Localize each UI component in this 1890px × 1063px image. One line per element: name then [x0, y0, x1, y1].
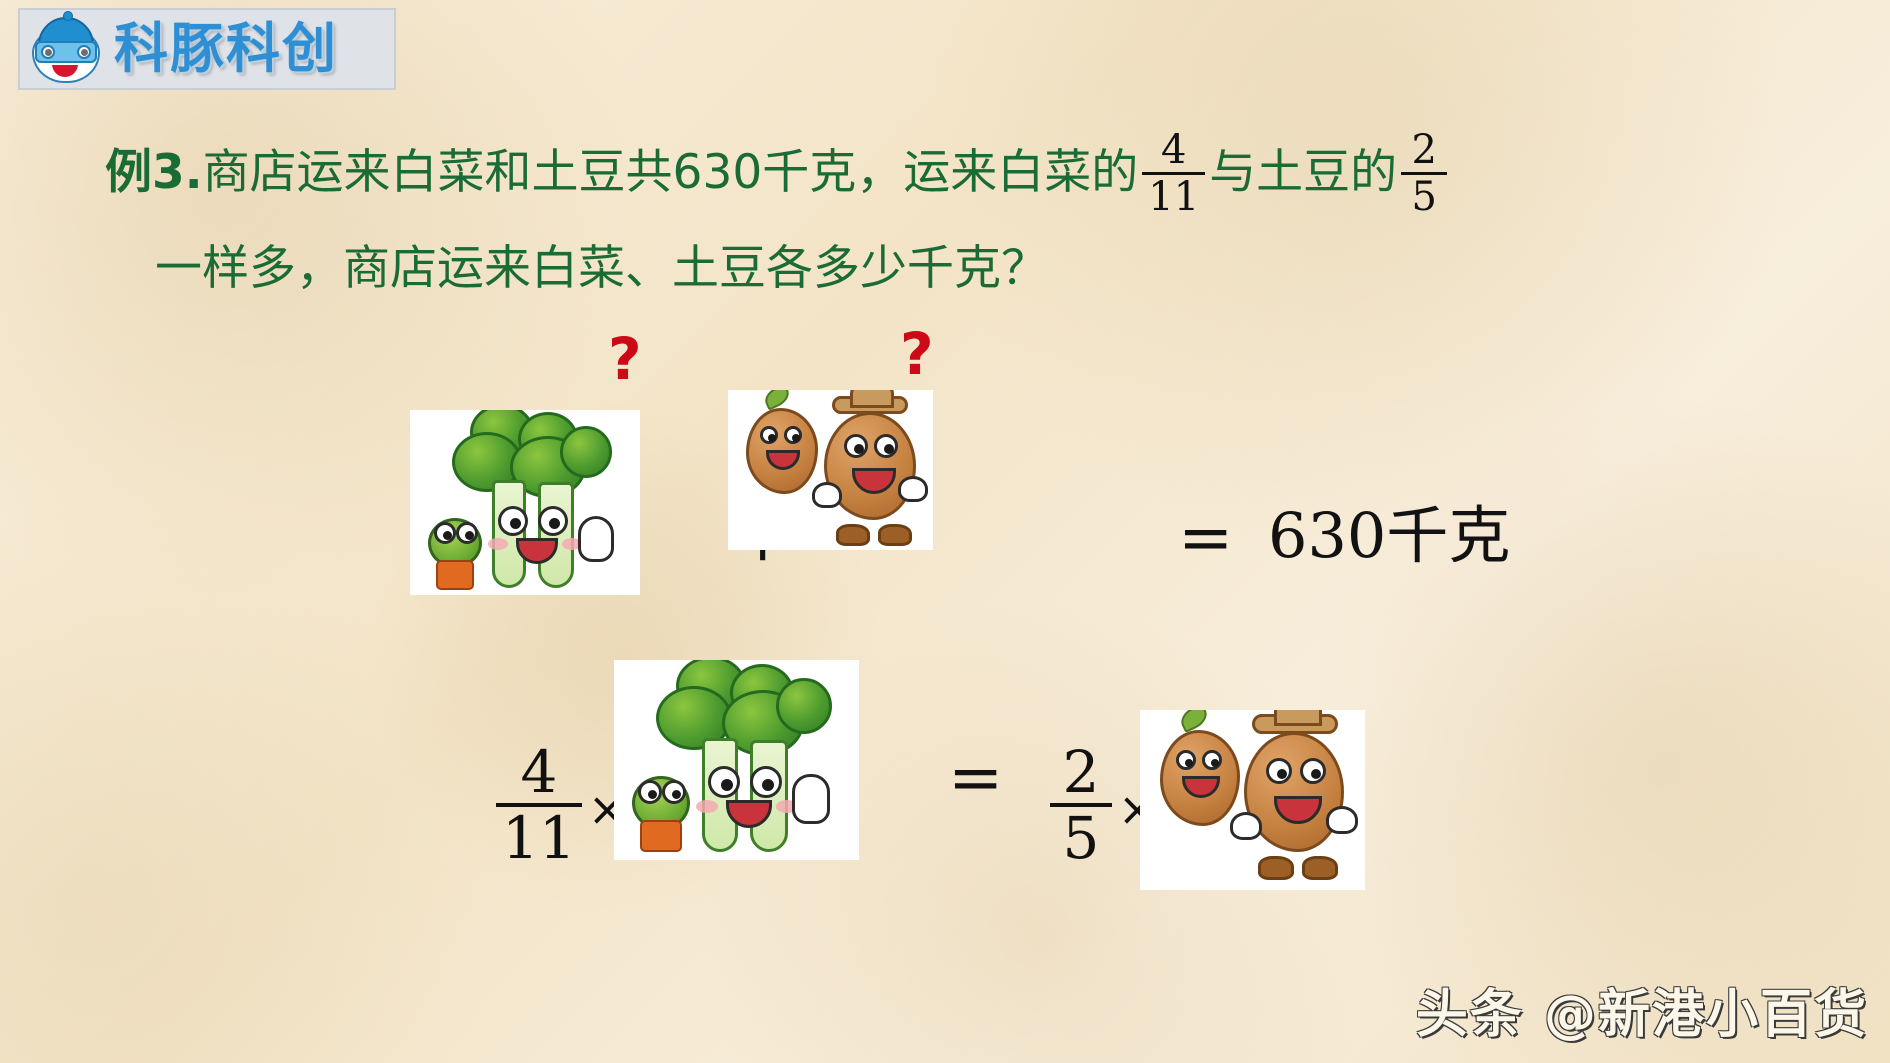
total-weight-label: 630千克 [1268, 505, 1510, 567]
fraction-4-11-row2: 4 11 [496, 743, 582, 867]
mascot-pupil-left [45, 49, 52, 56]
potato-shoe-right [878, 524, 912, 546]
fraction-2-5-inline: 25 [1401, 130, 1447, 217]
potato-shoe-left [836, 524, 870, 546]
fraction-numerator: 4 [1155, 130, 1192, 170]
potato-hat-crown [850, 390, 894, 408]
cabbage-image-row1 [410, 410, 640, 595]
cabbage-leaf [776, 678, 832, 734]
problem-statement: 例3.商店运来白菜和土豆共630千克，运来白菜的411与土豆的25 一样多，商店… [105, 125, 1865, 317]
potato-question-mark: ? [900, 325, 934, 383]
problem-line-2: 一样多，商店运来白菜、土豆各多少千克？ [155, 221, 1865, 317]
problem-line-1: 例3.商店运来白菜和土豆共630千克，运来白菜的411与土豆的25 [105, 125, 1865, 221]
cabbage-character [614, 660, 859, 860]
mascot-goggles [35, 41, 97, 63]
fraction-numerator: 2 [1405, 130, 1442, 170]
equals-operator-row1: = [1178, 505, 1233, 571]
left-fraction-group: 4 11 × [492, 745, 626, 869]
caterpillar-eye-right [456, 522, 478, 544]
cabbage-blush-left [696, 800, 718, 813]
cabbage-eye-left [498, 506, 528, 536]
potato-image-row1 [728, 390, 933, 550]
potato-large-eye-right [1300, 758, 1326, 784]
potato-small-eye-right [784, 426, 802, 444]
fraction-numerator: 2 [1057, 743, 1106, 801]
watermark-text: 头条 @新港小百货 [1416, 972, 1868, 1047]
equals-operator-row2: = [948, 745, 1003, 811]
mascot-pupil-right [81, 49, 88, 56]
problem-line1-part1: 商店运来白菜和土豆共630千克，运来白菜的 [203, 145, 1139, 200]
potato-shoe-right [1302, 856, 1338, 880]
potato-image-row2 [1140, 710, 1365, 890]
fraction-denominator: 5 [1405, 177, 1442, 217]
potato-large-eye-left [1266, 758, 1292, 784]
fraction-4-11-inline: 411 [1142, 130, 1205, 217]
caterpillar-eye-left [638, 780, 662, 804]
potato-small-eye-right [1202, 750, 1222, 770]
problem-line1-part2: 与土豆的 [1209, 145, 1397, 200]
potato-glove-right [1326, 806, 1358, 834]
brand-logo: 科豚科创 [18, 8, 396, 90]
potato-small-eye-left [1176, 750, 1196, 770]
potato-hat-crown [1274, 710, 1322, 726]
dolphin-robot-mascot-icon [30, 15, 102, 83]
cabbage-thumbs-up [578, 516, 614, 562]
fraction-denominator: 11 [1142, 177, 1205, 217]
cabbage-eye-left [708, 766, 740, 798]
cabbage-thumbs-up [792, 774, 830, 824]
cabbage-blush-left [488, 538, 508, 550]
fraction-denominator: 11 [496, 809, 582, 867]
potato-shoe-left [1258, 856, 1294, 880]
cabbage-question-mark: ? [608, 330, 642, 388]
mascot-cap-knob [63, 11, 73, 21]
fraction-2-5-row2: 2 5 [1050, 743, 1112, 867]
fraction-numerator: 4 [514, 743, 563, 801]
caterpillar-shirt [436, 560, 474, 590]
fraction-denominator: 5 [1057, 809, 1106, 867]
potato-large-eye-left [844, 434, 868, 458]
caterpillar-shirt [640, 820, 682, 852]
caterpillar-eye-right [662, 780, 686, 804]
caterpillar-eye-left [434, 522, 456, 544]
potato-glove-right [898, 476, 928, 502]
brand-name: 科豚科创 [114, 22, 338, 76]
cabbage-eye-right [538, 506, 568, 536]
potato-glove-left [1230, 812, 1262, 840]
potato-small-eye-left [760, 426, 778, 444]
cabbage-eye-right [750, 766, 782, 798]
problem-label: 例3. [105, 145, 203, 200]
mascot-eye-left [41, 45, 55, 59]
slide-canvas: 科豚科创 例3.商店运来白菜和土豆共630千克，运来白菜的411与土豆的25 一… [0, 0, 1890, 1063]
mascot-eye-right [77, 45, 91, 59]
cabbage-image-row2 [614, 660, 859, 860]
potato-glove-left [812, 482, 842, 508]
cabbage-leaf [560, 426, 612, 478]
cabbage-character [410, 410, 640, 595]
potato-large-eye-right [874, 434, 898, 458]
